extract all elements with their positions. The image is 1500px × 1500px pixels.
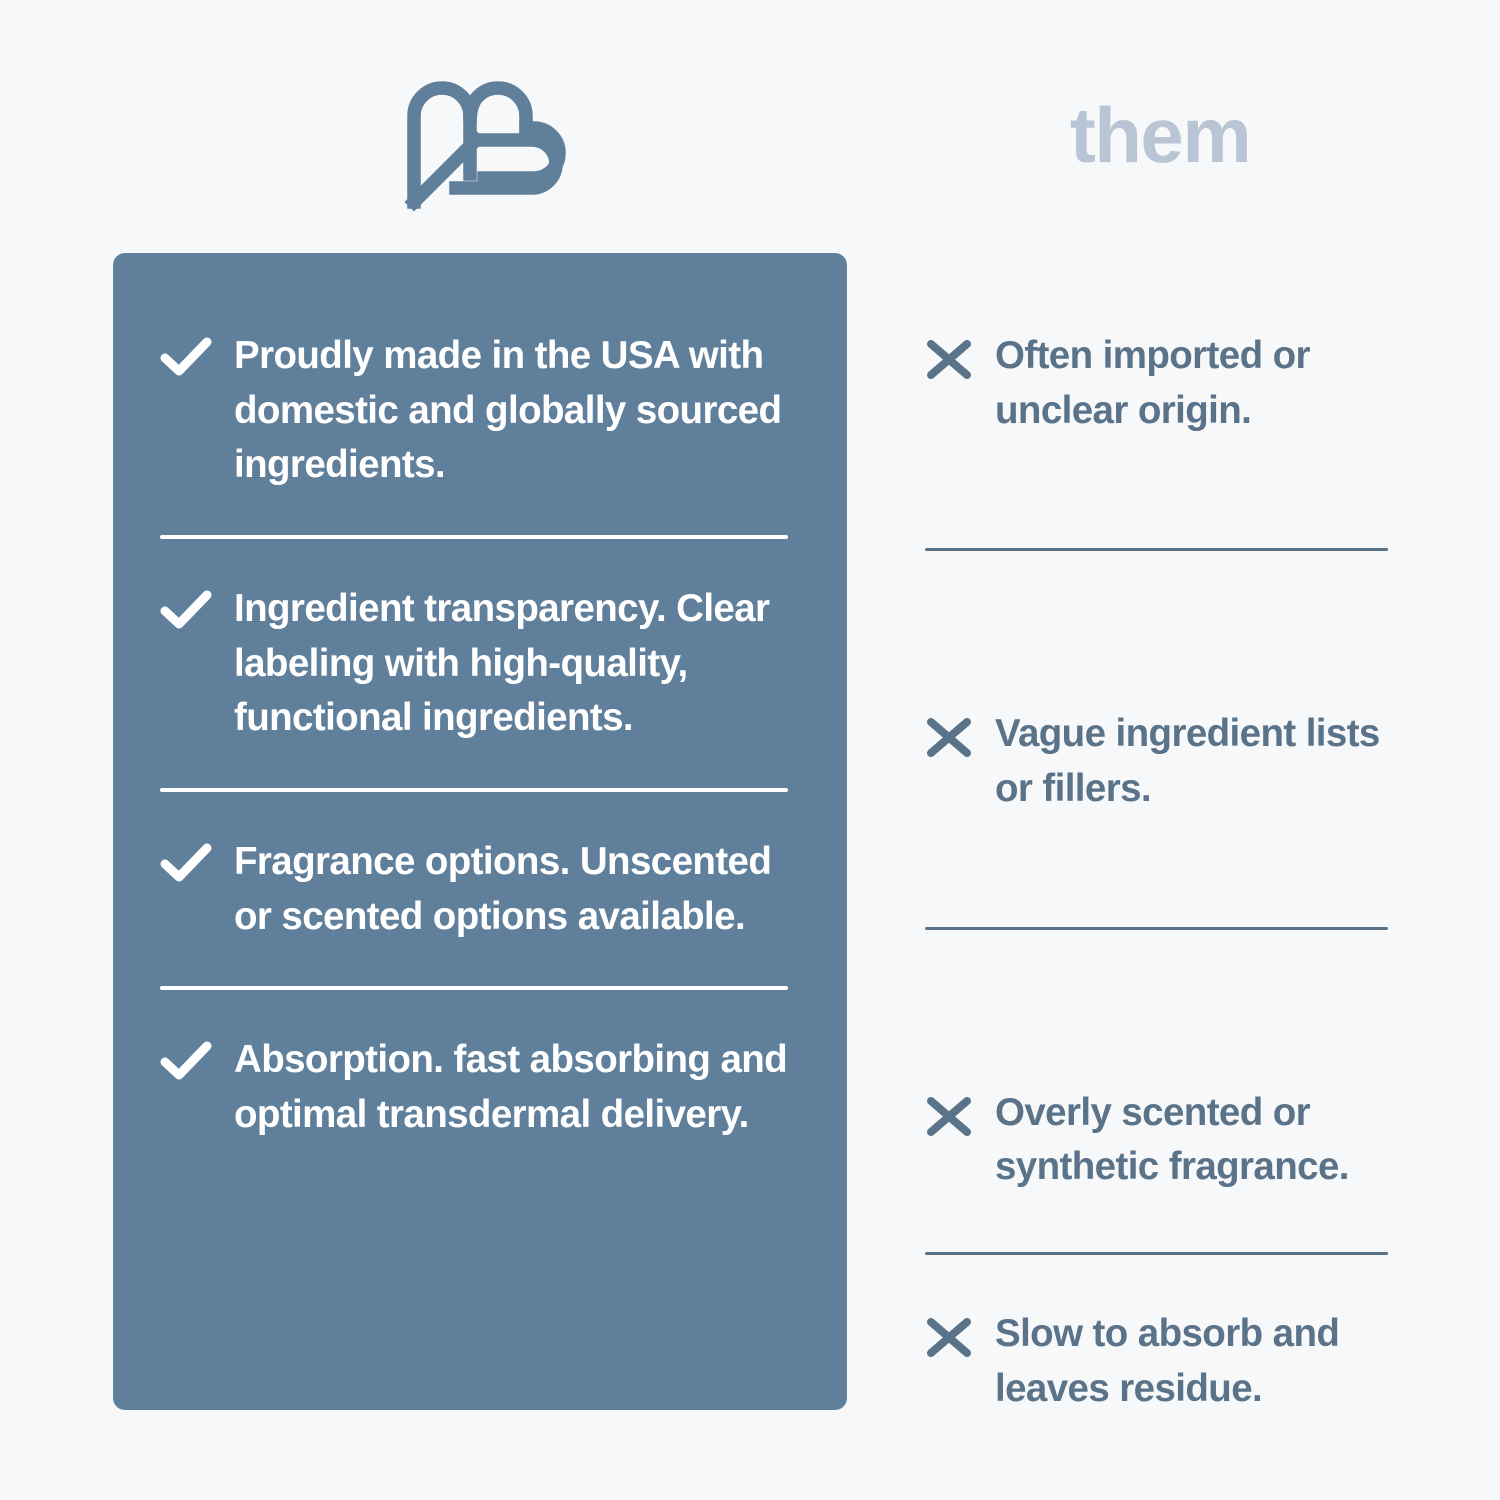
check-icon bbox=[160, 1033, 212, 1081]
them-column-title: them bbox=[925, 96, 1395, 174]
x-icon bbox=[925, 329, 973, 379]
list-item: Ingredient transparency. Clear labeling … bbox=[160, 582, 800, 746]
them-comparison-column: Often imported or unclear origin. Vague … bbox=[925, 253, 1390, 1416]
x-icon bbox=[925, 707, 973, 757]
list-item: Often imported or unclear origin. bbox=[925, 329, 1390, 438]
list-item-label: Often imported or unclear origin. bbox=[995, 329, 1390, 438]
list-item: Proudly made in the USA with domestic an… bbox=[160, 329, 800, 493]
list-item-label: Proudly made in the USA with domestic an… bbox=[234, 329, 800, 493]
list-item-label: Vague ingredient lists or fillers. bbox=[995, 707, 1390, 816]
list-item-label: Overly scented or synthetic fragrance. bbox=[995, 1086, 1390, 1195]
list-item-label: Fragrance options. Unscented or scented … bbox=[234, 835, 800, 944]
us-comparison-card: Proudly made in the USA with domestic an… bbox=[113, 253, 847, 1410]
list-item-label: Ingredient transparency. Clear labeling … bbox=[234, 582, 800, 746]
list-item: Overly scented or synthetic fragrance. bbox=[925, 1086, 1390, 1195]
list-item: Vague ingredient lists or fillers. bbox=[925, 707, 1390, 816]
header: them bbox=[0, 0, 1500, 253]
x-icon bbox=[925, 1307, 973, 1357]
list-item: Slow to absorb and leaves residue. bbox=[925, 1307, 1390, 1416]
comparison-infographic: them Proudly made in the USA with domest… bbox=[0, 0, 1500, 1500]
list-item: Absorption. fast absorbing and optimal t… bbox=[160, 1033, 800, 1142]
check-icon bbox=[160, 835, 212, 883]
mb-monogram-logo bbox=[404, 78, 570, 213]
check-icon bbox=[160, 329, 212, 377]
check-icon bbox=[160, 582, 212, 630]
list-item-label: Slow to absorb and leaves residue. bbox=[995, 1307, 1390, 1416]
list-item: Fragrance options. Unscented or scented … bbox=[160, 835, 800, 944]
list-item-label: Absorption. fast absorbing and optimal t… bbox=[234, 1033, 800, 1142]
x-icon bbox=[925, 1086, 973, 1136]
us-benefit-list: Proudly made in the USA with domestic an… bbox=[160, 329, 800, 1143]
